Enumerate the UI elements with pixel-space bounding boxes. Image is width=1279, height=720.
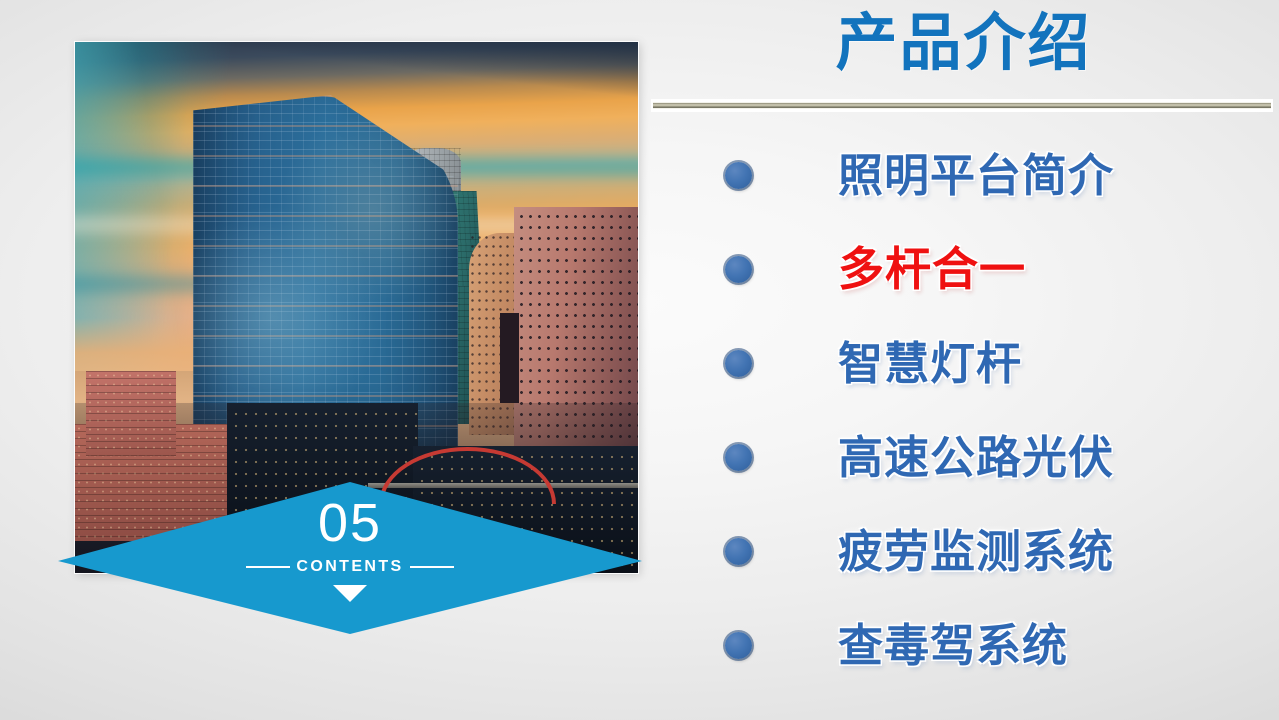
building-gap-shadow — [500, 313, 519, 403]
bullet-dot-icon — [725, 162, 752, 189]
list-item-label: 高速公路光伏 — [838, 435, 1114, 480]
agenda-list: 照明平台简介 多杆合一 智慧灯杆 高速公路光伏 疲劳监测系统 查毒驾系统 — [648, 128, 1279, 692]
presentation-slide: 05 CONTENTS 产品介绍 照明平台简介 多杆合一 智慧灯杆 — [0, 0, 1279, 720]
title-divider — [651, 99, 1273, 112]
bullet-dot-icon — [725, 350, 752, 377]
foreground-brick-block-2 — [86, 371, 176, 456]
list-item[interactable]: 高速公路光伏 — [648, 410, 1279, 504]
list-item[interactable]: 照明平台简介 — [648, 128, 1279, 222]
page-title: 产品介绍 — [648, 4, 1279, 85]
list-item-label: 查毒驾系统 — [838, 623, 1068, 668]
list-item[interactable]: 多杆合一 — [648, 222, 1279, 316]
bullet-dot-icon — [725, 444, 752, 471]
list-item-label: 照明平台简介 — [838, 153, 1114, 198]
bullet-dot-icon — [725, 632, 752, 659]
list-item-label: 疲劳监测系统 — [838, 529, 1114, 574]
bullet-dot-icon — [725, 256, 752, 283]
content-panel: 产品介绍 照明平台简介 多杆合一 智慧灯杆 高速公路光伏 疲劳监测系统 — [648, 0, 1279, 720]
list-item[interactable]: 智慧灯杆 — [648, 316, 1279, 410]
list-item[interactable]: 疲劳监测系统 — [648, 504, 1279, 598]
bullet-dot-icon — [725, 538, 752, 565]
list-item[interactable]: 查毒驾系统 — [648, 598, 1279, 692]
list-item-label: 智慧灯杆 — [838, 341, 1022, 386]
list-item-label: 多杆合一 — [838, 246, 1026, 292]
